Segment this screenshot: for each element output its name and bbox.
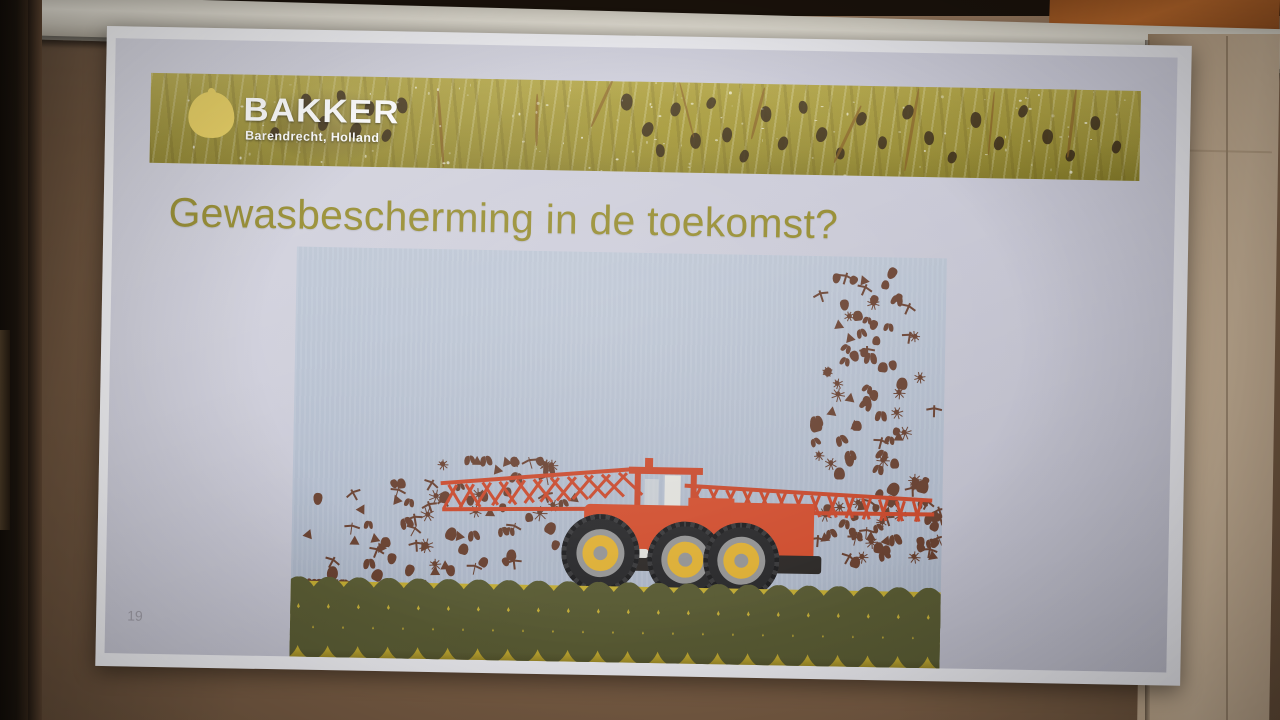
bakker-logo: BAKKER Barendrecht, Holland [188,88,479,155]
logo-name: BAKKER [243,91,400,132]
mast-stub [645,458,653,472]
photo-scene: BAKKER Barendrecht, Holland Gewasbescher… [0,0,1280,720]
door-gap [0,330,10,530]
page-title: Gewasbescherming in de toekomst? [168,189,1069,252]
logo-tagline: Barendrecht, Holland [245,129,380,145]
slide-page-number: 19 [127,607,143,623]
right-wall-edge-line [1226,36,1228,720]
dark-left-edge-inner [28,0,42,720]
slide: BAKKER Barendrecht, Holland Gewasbescher… [105,38,1178,672]
crop-row [289,580,940,670]
slide-banner: BAKKER Barendrecht, Holland [150,73,1141,181]
crop-leaf [944,606,947,655]
cab-window [644,479,658,505]
illustration-crop-sprayer [289,247,946,671]
projection-screen: BAKKER Barendrecht, Holland Gewasbescher… [95,26,1192,686]
apple-logo-icon [188,92,235,139]
